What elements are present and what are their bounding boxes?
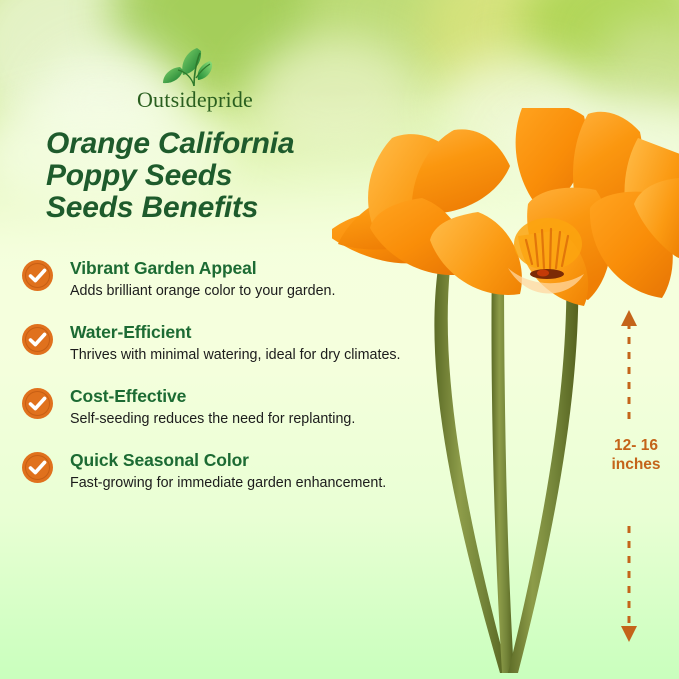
measure-label: 12- 16 inches	[596, 436, 676, 474]
title-line-3: Seeds Benefits	[46, 192, 376, 224]
brand-name: Outsidepride	[120, 87, 270, 113]
check-circle-icon	[22, 260, 53, 291]
height-measurement-annotation: 12- 16 inches	[596, 308, 676, 648]
benefit-description: Fast-growing for immediate garden enhanc…	[70, 474, 422, 492]
benefit-description: Self-seeding reduces the need for replan…	[70, 410, 422, 428]
benefit-item: Water-Efficient Thrives with minimal wat…	[22, 322, 422, 364]
benefit-heading: Cost-Effective	[70, 386, 422, 407]
check-circle-icon	[22, 324, 53, 355]
benefit-description: Adds brilliant orange color to your gard…	[70, 282, 422, 300]
arrow-down-icon	[621, 626, 637, 642]
benefit-heading: Quick Seasonal Color	[70, 450, 422, 471]
leaf-sprout-icon	[120, 42, 270, 88]
benefit-description: Thrives with minimal watering, ideal for…	[70, 346, 422, 364]
benefit-item: Quick Seasonal Color Fast-growing for im…	[22, 450, 422, 492]
page-title: Orange California Poppy Seeds Seeds Bene…	[46, 128, 376, 224]
brand-logo: Outsidepride	[120, 42, 270, 110]
benefit-heading: Water-Efficient	[70, 322, 422, 343]
measure-value: 12- 16	[596, 436, 676, 455]
arrow-up-icon	[621, 310, 637, 326]
benefit-item: Cost-Effective Self-seeding reduces the …	[22, 386, 422, 428]
check-circle-icon	[22, 452, 53, 483]
title-line-1: Orange California	[46, 128, 376, 160]
product-benefits-infographic: Outsidepride Orange California Poppy See…	[0, 0, 679, 679]
measure-unit: inches	[596, 455, 676, 474]
check-circle-icon	[22, 388, 53, 419]
benefit-item: Vibrant Garden Appeal Adds brilliant ora…	[22, 258, 422, 300]
benefit-heading: Vibrant Garden Appeal	[70, 258, 422, 279]
title-line-2: Poppy Seeds	[46, 160, 376, 192]
benefits-list: Vibrant Garden Appeal Adds brilliant ora…	[22, 258, 422, 514]
